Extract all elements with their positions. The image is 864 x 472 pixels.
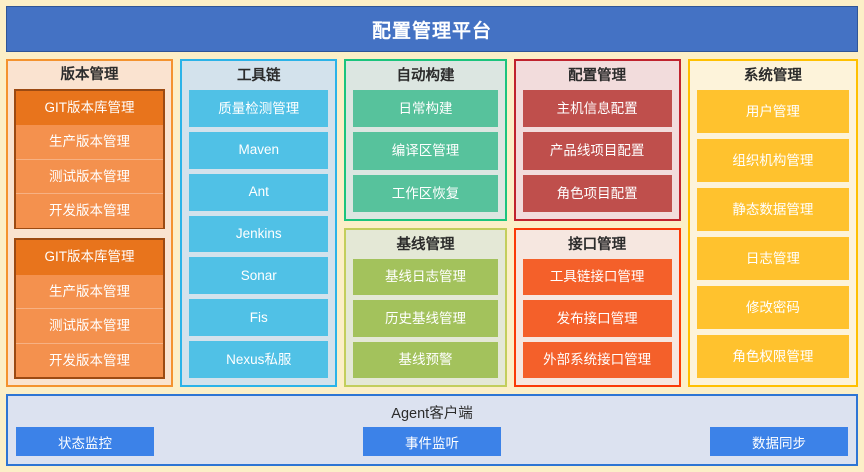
system-items: 用户管理 组织机构管理 静态数据管理 日志管理 修改密码 角色权限管理	[697, 90, 849, 378]
agent-button-data-sync[interactable]: 数据同步	[710, 427, 848, 456]
item-nexus-private-server[interactable]: Nexus私服	[189, 341, 328, 378]
panel-toolchain: 工具链 质量检测管理 Maven Ant Jenkins Sonar Fis N…	[180, 59, 337, 387]
column-toolchain: 工具链 质量检测管理 Maven Ant Jenkins Sonar Fis N…	[180, 59, 337, 387]
item-production-version-management-2[interactable]: 生产版本管理	[16, 275, 163, 309]
item-external-system-interface-management[interactable]: 外部系统接口管理	[523, 342, 672, 378]
column-version-management: 版本管理 GIT版本库管理 生产版本管理 测试版本管理 开发版本管理 GIT版本…	[6, 59, 173, 387]
item-static-data-management[interactable]: 静态数据管理	[697, 188, 849, 231]
toolchain-items: 质量检测管理 Maven Ant Jenkins Sonar Fis Nexus…	[189, 90, 328, 378]
item-history-baseline-management[interactable]: 历史基线管理	[353, 300, 497, 336]
item-workspace-recovery[interactable]: 工作区恢复	[353, 175, 497, 212]
item-baseline-alert[interactable]: 基线预警	[353, 342, 497, 378]
item-compile-zone-management[interactable]: 编译区管理	[353, 132, 497, 169]
column-system-management: 系统管理 用户管理 组织机构管理 静态数据管理 日志管理 修改密码 角色权限管理	[688, 59, 858, 387]
item-change-password[interactable]: 修改密码	[697, 286, 849, 329]
panel-title-baseline-management: 基线管理	[353, 235, 497, 259]
agent-buttons: 状态监控 事件监听 数据同步	[16, 427, 848, 456]
item-user-management[interactable]: 用户管理	[697, 90, 849, 133]
panel-system-management: 系统管理 用户管理 组织机构管理 静态数据管理 日志管理 修改密码 角色权限管理	[688, 59, 858, 387]
item-git-repo-management-2[interactable]: GIT版本库管理	[16, 240, 163, 274]
item-fis[interactable]: Fis	[189, 299, 328, 336]
panel-interface-management: 接口管理 工具链接口管理 发布接口管理 外部系统接口管理	[514, 228, 681, 387]
panel-columns: 版本管理 GIT版本库管理 生产版本管理 测试版本管理 开发版本管理 GIT版本…	[6, 59, 858, 387]
item-dev-version-management-2[interactable]: 开发版本管理	[16, 344, 163, 377]
panel-auto-build: 自动构建 日常构建 编译区管理 工作区恢复	[344, 59, 506, 221]
auto-build-items: 日常构建 编译区管理 工作区恢复	[353, 90, 497, 212]
agent-button-event-listener[interactable]: 事件监听	[363, 427, 501, 456]
version-group-1: GIT版本库管理 生产版本管理 测试版本管理 开发版本管理	[14, 89, 165, 230]
item-production-version-management-1[interactable]: 生产版本管理	[16, 125, 163, 159]
item-role-permission-management[interactable]: 角色权限管理	[697, 335, 849, 378]
item-product-line-project-configuration[interactable]: 产品线项目配置	[523, 132, 672, 169]
item-host-info-configuration[interactable]: 主机信息配置	[523, 90, 672, 127]
panel-title-toolchain: 工具链	[189, 66, 328, 90]
column-config-interface: 配置管理 主机信息配置 产品线项目配置 角色项目配置 接口管理 工具链接口管理 …	[514, 59, 681, 387]
page-title: 配置管理平台	[6, 6, 858, 52]
item-test-version-management-2[interactable]: 测试版本管理	[16, 309, 163, 343]
baseline-items: 基线日志管理 历史基线管理 基线预警	[353, 259, 497, 378]
column-build-baseline: 自动构建 日常构建 编译区管理 工作区恢复 基线管理 基线日志管理 历史基线管理…	[344, 59, 506, 387]
item-sonar[interactable]: Sonar	[189, 257, 328, 294]
configuration-items: 主机信息配置 产品线项目配置 角色项目配置	[523, 90, 672, 212]
version-groups: GIT版本库管理 生产版本管理 测试版本管理 开发版本管理 GIT版本库管理 生…	[14, 89, 165, 379]
panel-title-interface-management: 接口管理	[523, 235, 672, 259]
item-maven[interactable]: Maven	[189, 132, 328, 169]
panel-version-management: 版本管理 GIT版本库管理 生产版本管理 测试版本管理 开发版本管理 GIT版本…	[6, 59, 173, 387]
interface-items: 工具链接口管理 发布接口管理 外部系统接口管理	[523, 259, 672, 378]
panel-title-version-management: 版本管理	[14, 65, 165, 89]
item-toolchain-interface-management[interactable]: 工具链接口管理	[523, 259, 672, 295]
panel-title-configuration-management: 配置管理	[523, 66, 672, 90]
item-baseline-log-management[interactable]: 基线日志管理	[353, 259, 497, 295]
item-test-version-management-1[interactable]: 测试版本管理	[16, 160, 163, 194]
item-dev-version-management-1[interactable]: 开发版本管理	[16, 194, 163, 227]
version-group-2: GIT版本库管理 生产版本管理 测试版本管理 开发版本管理	[14, 238, 165, 379]
panel-title-system-management: 系统管理	[697, 66, 849, 90]
item-role-project-configuration[interactable]: 角色项目配置	[523, 175, 672, 212]
item-git-repo-management-1[interactable]: GIT版本库管理	[16, 91, 163, 125]
item-daily-build[interactable]: 日常构建	[353, 90, 497, 127]
item-organization-management[interactable]: 组织机构管理	[697, 139, 849, 182]
item-quality-inspection-management[interactable]: 质量检测管理	[189, 90, 328, 127]
configuration-management-platform: 配置管理平台 版本管理 GIT版本库管理 生产版本管理 测试版本管理 开发版本管…	[0, 0, 864, 472]
panel-title-auto-build: 自动构建	[353, 66, 497, 90]
panel-configuration-management: 配置管理 主机信息配置 产品线项目配置 角色项目配置	[514, 59, 681, 221]
item-ant[interactable]: Ant	[189, 174, 328, 211]
panel-title-agent-client: Agent客户端	[16, 400, 848, 427]
panel-agent-client: Agent客户端 状态监控 事件监听 数据同步	[6, 394, 858, 466]
item-log-management[interactable]: 日志管理	[697, 237, 849, 280]
agent-button-status-monitor[interactable]: 状态监控	[16, 427, 154, 456]
panel-baseline-management: 基线管理 基线日志管理 历史基线管理 基线预警	[344, 228, 506, 387]
item-jenkins[interactable]: Jenkins	[189, 216, 328, 253]
item-release-interface-management[interactable]: 发布接口管理	[523, 300, 672, 336]
